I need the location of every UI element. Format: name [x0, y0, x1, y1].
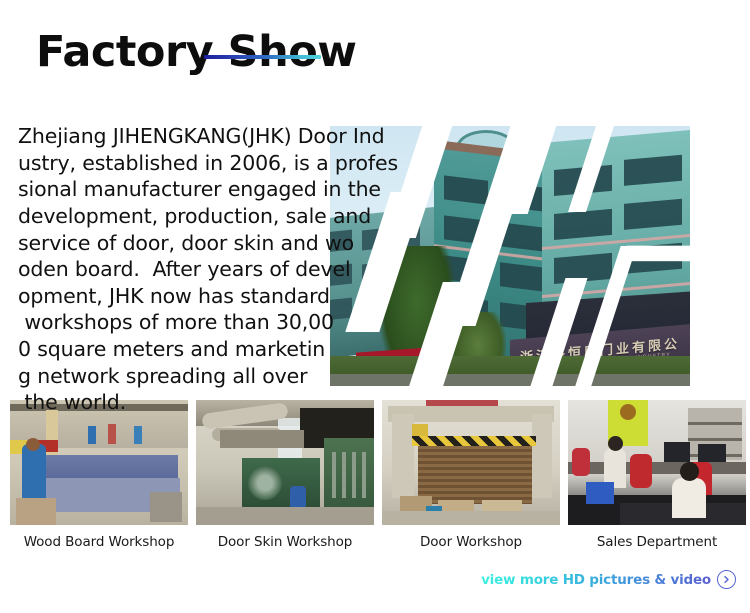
title-block: Factory Show — [36, 30, 357, 75]
view-more-label: view more HD pictures & video — [481, 572, 711, 588]
page-title: Factory Show — [36, 30, 357, 75]
thumb-door-workshop[interactable]: Door Workshop — [382, 400, 560, 550]
view-more-link[interactable]: view more HD pictures & video — [481, 570, 736, 589]
chevron-right-icon[interactable] — [717, 570, 736, 589]
workshop-thumbnail-row: Wood Board Workshop Door Skin Workshop — [10, 400, 740, 550]
thumb-image-wood-board[interactable] — [10, 400, 188, 525]
thumb-image-door-skin[interactable] — [196, 400, 374, 525]
thumb-label: Door Workshop — [382, 534, 560, 550]
thumb-image-door[interactable] — [382, 400, 560, 525]
thumb-label: Wood Board Workshop — [10, 534, 188, 550]
thumb-door-skin-workshop[interactable]: Door Skin Workshop — [196, 400, 374, 550]
title-underline-accent — [204, 55, 321, 59]
factory-show-page: Factory Show — [0, 0, 750, 613]
thumb-image-sales[interactable] — [568, 400, 746, 525]
thumb-wood-board-workshop[interactable]: Wood Board Workshop — [10, 400, 188, 550]
thumb-label: Sales Department — [568, 534, 746, 550]
thumb-sales-department[interactable]: Sales Department — [568, 400, 746, 550]
intro-paragraph: Zhejiang JIHENGKANG(JHK) Door Ind ustry,… — [18, 123, 430, 416]
thumb-label: Door Skin Workshop — [196, 534, 374, 550]
